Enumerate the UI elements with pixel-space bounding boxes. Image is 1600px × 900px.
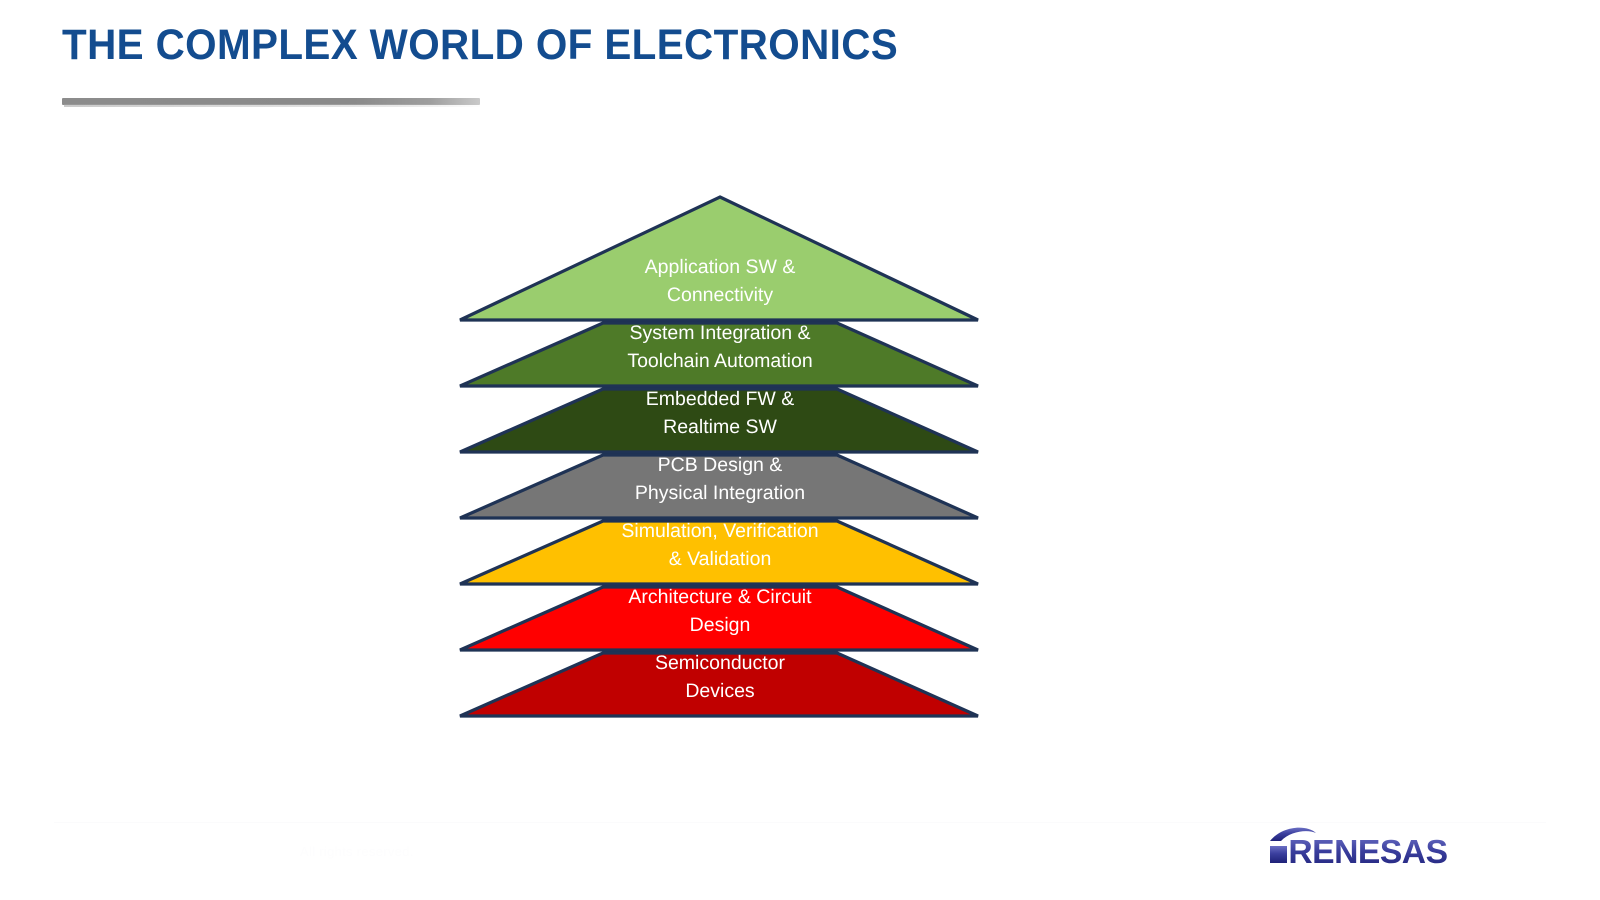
renesas-logo: RENESAS <box>1268 824 1500 868</box>
slide-canvas: THE COMPLEX WORLD OF ELECTRONICS Applica… <box>0 0 1600 900</box>
pyramid-layer-7-shape[interactable] <box>460 653 978 716</box>
pyramid-layer-3-shape[interactable] <box>460 389 978 452</box>
page-title: THE COMPLEX WORLD OF ELECTRONICS <box>62 24 1096 67</box>
footer-note: All rights reserved. <box>300 844 414 859</box>
title-underline-shadow <box>64 104 480 107</box>
pyramid-layer-5-shape[interactable] <box>460 521 978 584</box>
pyramid-layer-1-shape[interactable] <box>460 197 978 320</box>
pyramid-diagram: Application SW & Connectivity System Int… <box>455 190 985 720</box>
renesas-wordmark: RENESAS <box>1288 834 1447 868</box>
footer-divider <box>54 822 1546 823</box>
pyramid-layer-2-shape[interactable] <box>460 323 978 386</box>
pyramid-svg <box>455 190 985 720</box>
pyramid-layer-4-shape[interactable] <box>460 455 978 518</box>
pyramid-layer-6-shape[interactable] <box>460 587 978 650</box>
renesas-square-mark <box>1270 846 1287 863</box>
renesas-logo-svg: RENESAS <box>1268 824 1500 868</box>
